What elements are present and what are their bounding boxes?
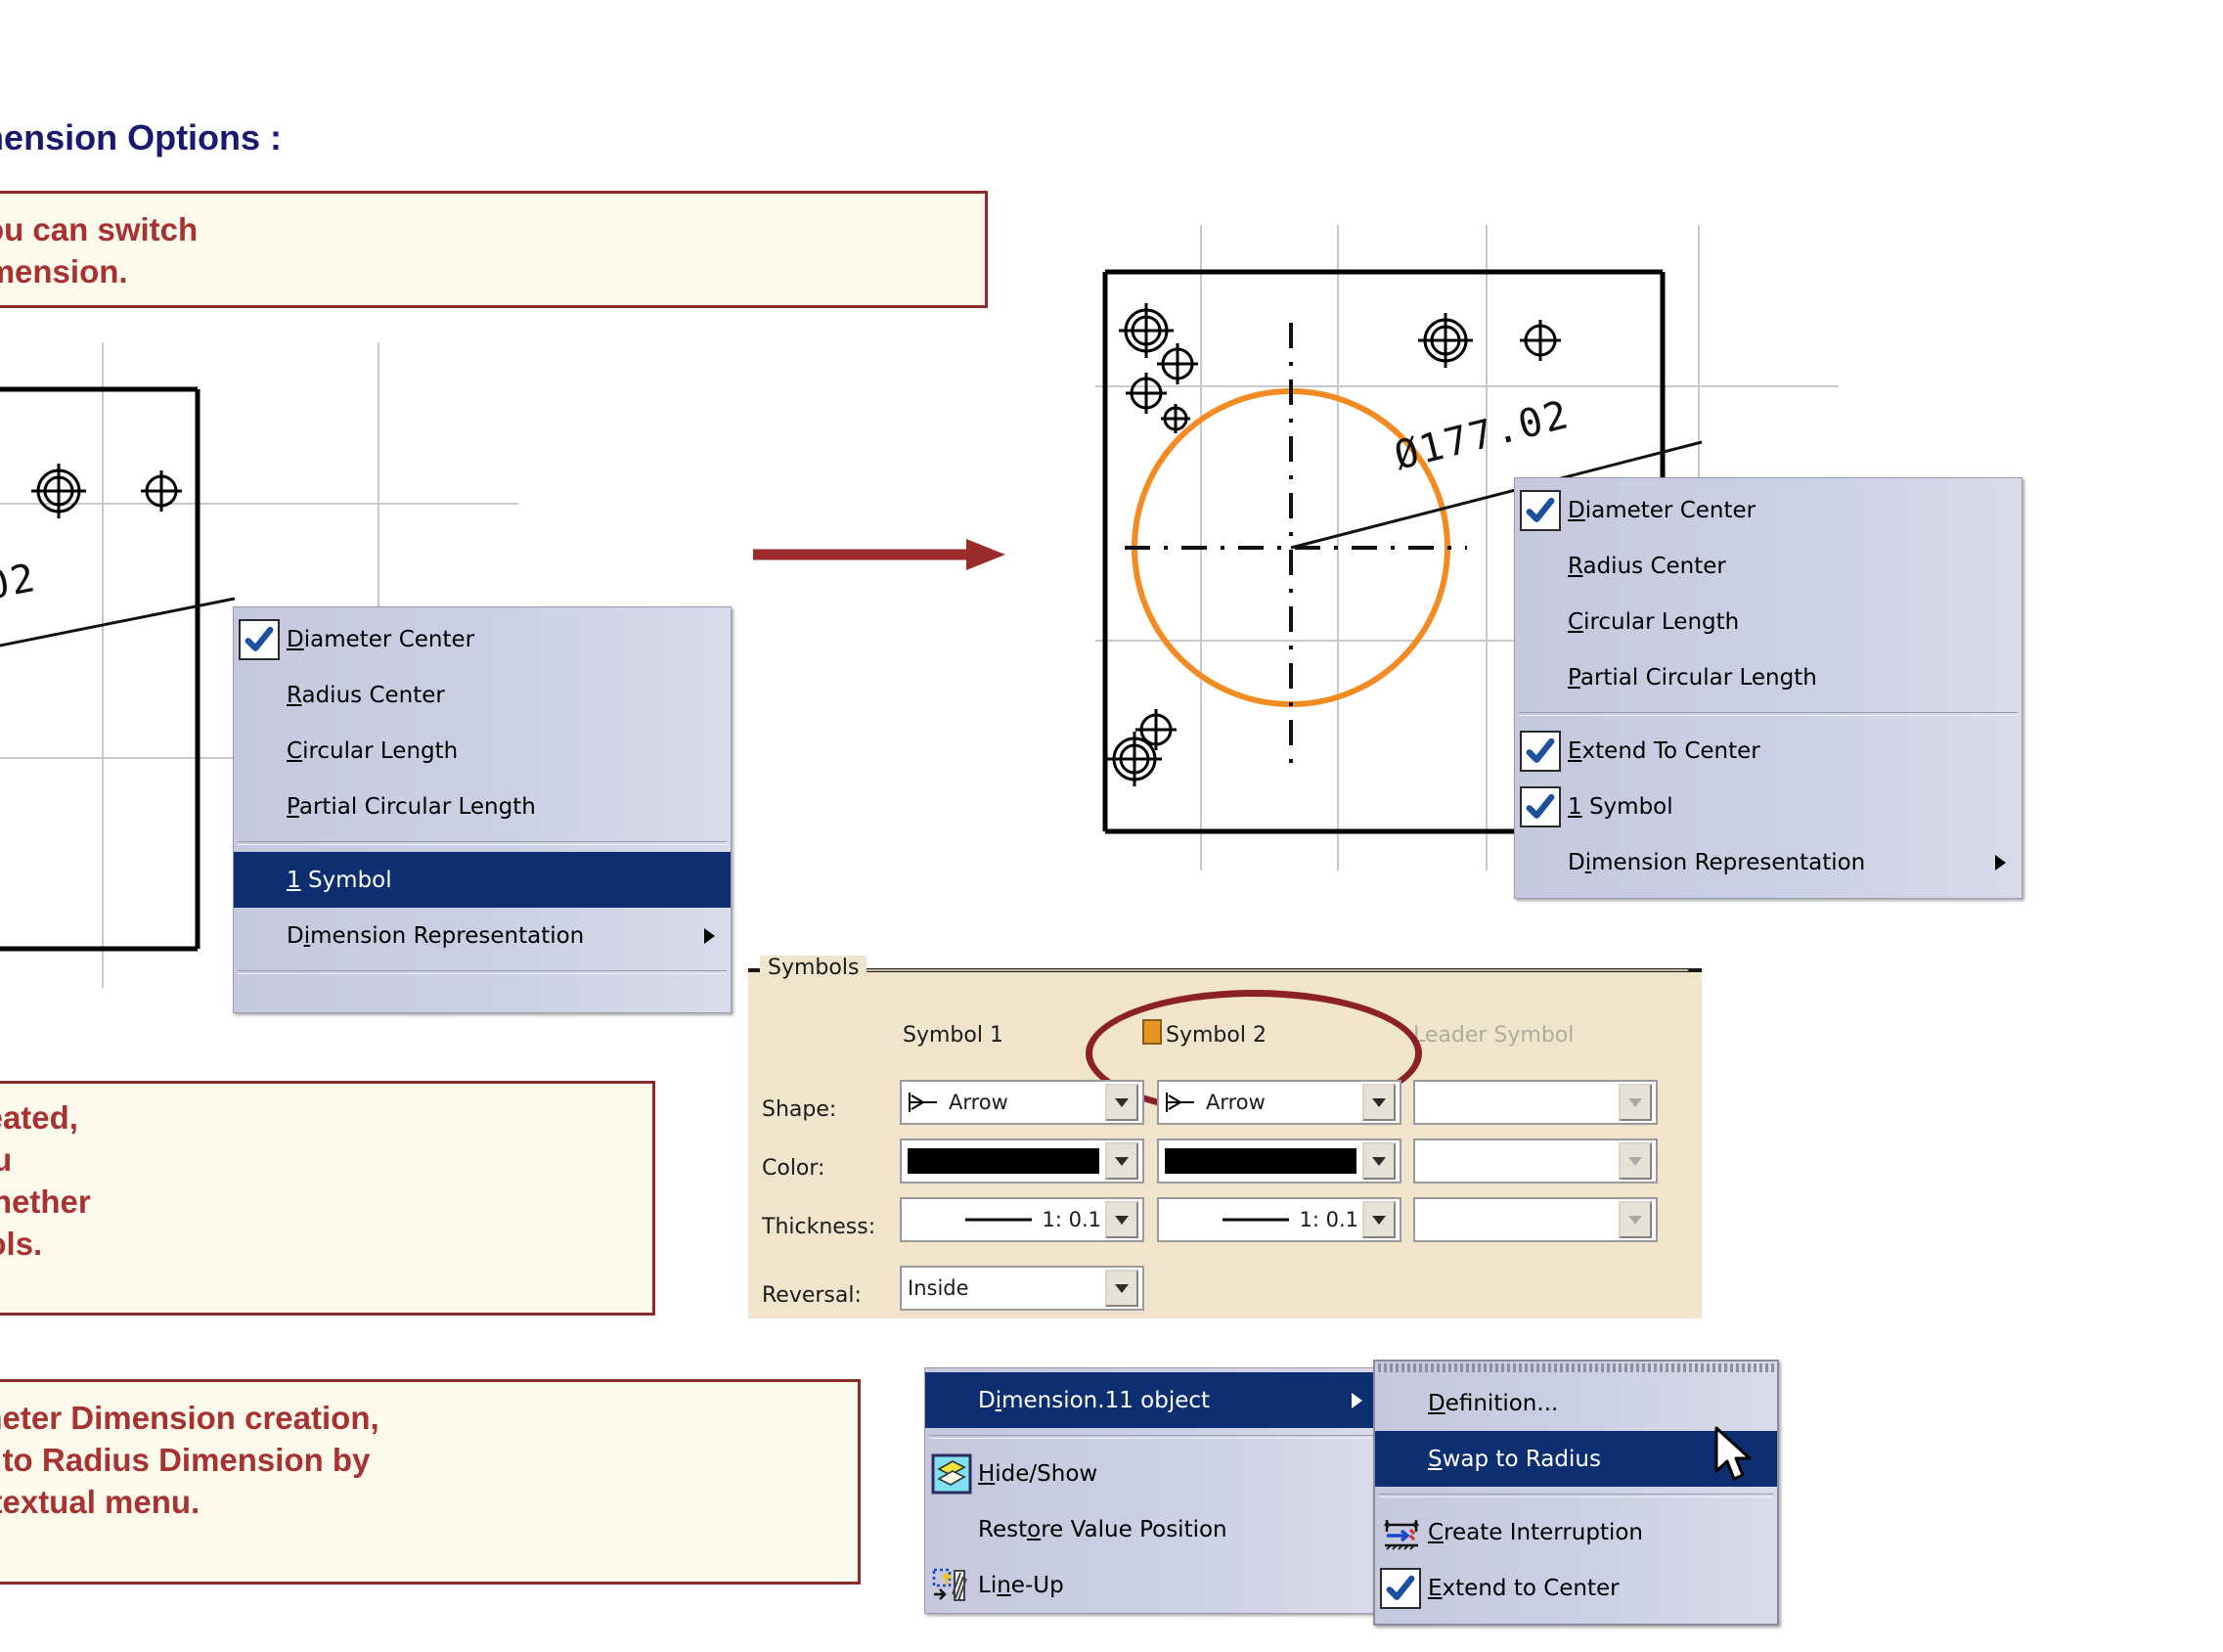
chevron-down-icon[interactable] — [1105, 1201, 1138, 1238]
menu-item-diameter-center[interactable]: Diameter Center — [234, 611, 731, 667]
menu-footer-strip — [234, 981, 731, 1005]
row-label-shape: Shape: — [762, 1097, 836, 1122]
callout-line: use the Properties menu — [0, 1139, 639, 1182]
combo-content: 1: 0.1 — [902, 1208, 1105, 1231]
callout-line: ymbol or two-symbols dimension. — [0, 251, 971, 293]
menu-item-extend-to-center[interactable]: Extend To Center — [1515, 723, 2022, 779]
callout-line: n Line tab) to specify whether — [0, 1182, 639, 1224]
checkmark-icon — [1520, 786, 1561, 827]
menu-item-diameter-center[interactable]: Diameter Center — [1515, 482, 2022, 538]
color-symbol-1-combo[interactable] — [900, 1139, 1144, 1183]
menu-item-create-interruption[interactable]: Create Interruption — [1375, 1504, 1777, 1560]
callout-box-swap-to-radius: After the Diameter Dimension creation, y… — [0, 1379, 861, 1585]
group-title-symbols: Symbols — [760, 956, 867, 980]
row-label-color: Color: — [762, 1156, 824, 1181]
menu-item-label: Dimension Representation — [287, 923, 584, 949]
menu-item-extend-to-center[interactable]: Extend to Center — [1375, 1560, 1777, 1616]
menu-item-line-up[interactable]: Line-Up — [925, 1557, 1378, 1613]
group-divider — [866, 969, 1688, 971]
line-thickness-icon — [963, 1213, 1034, 1227]
menu-item-label: 1 Symbol — [287, 868, 392, 893]
menu-separator — [238, 841, 727, 845]
menu-item-dimension-representation[interactable]: Dimension Representation — [1515, 834, 2022, 890]
column-header-symbol-2: Symbol 2 — [1166, 1023, 1267, 1048]
context-menu-dimension-options-left[interactable]: Diameter Center Radius Center Circular L… — [233, 606, 732, 1013]
menu-item-label: Radius Center — [1568, 554, 1726, 579]
color-symbol-2-combo[interactable] — [1157, 1139, 1401, 1183]
combo-content: 1: 0.1 — [1159, 1208, 1362, 1231]
chevron-down-icon — [1619, 1142, 1652, 1180]
menu-item-label: Diameter Center — [287, 627, 474, 652]
menu-item-label: Partial Circular Length — [287, 794, 536, 820]
dimension-value-right: Ø177.02 — [1390, 392, 1574, 479]
menu-item-label: Partial Circular Length — [1568, 665, 1817, 691]
chevron-down-icon — [1619, 1084, 1652, 1121]
column-header-symbol-1: Symbol 1 — [903, 1023, 1003, 1048]
chevron-down-icon[interactable] — [1105, 1142, 1138, 1180]
combo-content: Inside — [902, 1276, 1105, 1300]
callout-line: dimension has been created, — [0, 1097, 639, 1139]
menu-drag-handle[interactable] — [1378, 1363, 1774, 1372]
color-leader-symbol-combo — [1413, 1139, 1658, 1183]
combo-value: 1: 0.1 — [1042, 1208, 1101, 1231]
row-label-reversal: Reversal: — [762, 1283, 862, 1308]
callout-line: o use one or two-symbols. — [0, 1224, 639, 1266]
menu-item-label: Definition... — [1428, 1391, 1558, 1416]
column-header-leader-symbol: Leader Symbol — [1413, 1023, 1574, 1048]
combo-content — [902, 1148, 1105, 1174]
checkmark-icon — [1520, 731, 1561, 772]
chevron-right-icon — [1995, 855, 2006, 871]
line-up-icon — [931, 1565, 972, 1606]
callout-line: After the Diameter Dimension creation, — [0, 1398, 844, 1440]
context-menu-dimension-options-right[interactable]: Diameter Center Radius Center Circular L… — [1514, 477, 2023, 899]
menu-item-1-symbol[interactable]: 1 Symbol — [1515, 779, 2022, 834]
menu-item-label: Swap to Radius — [1428, 1447, 1601, 1472]
callout-line: using the contextual menu. — [0, 1482, 844, 1524]
combo-value: 1: 0.1 — [1299, 1208, 1358, 1231]
menu-item-label: Line-Up — [978, 1573, 1064, 1598]
menu-item-label: Diameter Center — [1568, 498, 1756, 523]
symbols-properties-panel: Symbols Symbol 1 Symbol 2 Leader Symbol … — [748, 968, 1702, 1318]
menu-item-circular-length[interactable]: Circular Length — [234, 723, 731, 779]
chevron-down-icon[interactable] — [1362, 1084, 1396, 1121]
combo-content — [1159, 1148, 1362, 1174]
menu-item-label: Dimension.11 object — [978, 1388, 1210, 1413]
transition-arrow-icon — [753, 533, 1007, 576]
chevron-down-icon[interactable] — [1362, 1201, 1396, 1238]
menu-item-label: Circular Length — [1568, 609, 1739, 635]
menu-item-radius-center[interactable]: Radius Center — [1515, 538, 2022, 594]
shape-symbol-1-combo[interactable]: Arrow — [900, 1080, 1144, 1125]
thickness-symbol-1-combo[interactable]: 1: 0.1 — [900, 1197, 1144, 1242]
chevron-down-icon[interactable] — [1105, 1270, 1138, 1307]
combo-content: Arrow — [902, 1091, 1105, 1114]
line-thickness-icon — [1221, 1213, 1291, 1227]
mouse-cursor-icon — [1712, 1426, 1757, 1487]
create-interruption-icon — [1381, 1512, 1422, 1553]
hide-show-icon — [931, 1453, 972, 1495]
color-swatch-black — [1165, 1148, 1356, 1174]
menu-item-restore-value-position[interactable]: Restore Value Position — [925, 1501, 1378, 1557]
menu-item-label: 1 Symbol — [1568, 794, 1673, 820]
page-title: eter Dimension Options : — [0, 117, 743, 158]
checkmark-icon — [1380, 1568, 1421, 1609]
menu-item-label: Create Interruption — [1428, 1520, 1643, 1545]
checkmark-icon — [239, 619, 280, 660]
shape-leader-symbol-combo — [1413, 1080, 1658, 1125]
dimension-value-left: Ø177.02 — [0, 556, 40, 634]
menu-item-label: Hide/Show — [978, 1461, 1097, 1487]
combo-value: Inside — [908, 1276, 969, 1300]
chevron-down-icon — [1619, 1201, 1652, 1238]
reversal-combo[interactable]: Inside — [900, 1266, 1144, 1311]
menu-item-definition[interactable]: Definition... — [1375, 1375, 1777, 1431]
menu-item-label: Circular Length — [287, 738, 458, 764]
menu-item-label: Dimension Representation — [1568, 850, 1865, 875]
menu-separator — [238, 970, 727, 974]
menu-item-dimension-representation[interactable]: Dimension Representation — [234, 908, 731, 963]
menu-item-1-symbol[interactable]: 1 Symbol — [234, 852, 731, 908]
combo-content: Arrow — [1159, 1091, 1362, 1114]
menu-item-label: Radius Center — [287, 683, 445, 708]
menu-item-hide-show[interactable]: Hide/Show — [925, 1446, 1378, 1501]
chevron-down-icon[interactable] — [1105, 1084, 1138, 1121]
menu-item-label: Restore Value Position — [978, 1517, 1227, 1542]
thickness-symbol-2-combo[interactable]: 1: 0.1 — [1157, 1197, 1401, 1242]
arrow-symbol-icon — [908, 1091, 941, 1114]
symbol-2-marker-icon — [1142, 1019, 1162, 1045]
callout-line: you can swap to Radius Dimension by — [0, 1440, 844, 1482]
menu-item-dimension-11-object[interactable]: Dimension.11 object — [925, 1372, 1378, 1428]
menu-item-radius-center[interactable]: Radius Center — [234, 667, 731, 723]
color-swatch-black — [908, 1148, 1099, 1174]
thickness-leader-symbol-combo — [1413, 1197, 1658, 1242]
menu-separator — [1519, 712, 2018, 716]
checkmark-icon — [1520, 490, 1561, 531]
callout-box-switch-symbols: mension creation step, you can switch ym… — [0, 191, 988, 308]
context-submenu-dimension-actions[interactable]: Definition... Swap to Radius Create Inte… — [1373, 1360, 1779, 1626]
context-menu-dimension-object[interactable]: Dimension.11 object Hide/Show Restore Va… — [924, 1367, 1379, 1614]
menu-separator — [929, 1435, 1374, 1439]
callout-line: mension creation step, you can switch — [0, 209, 971, 251]
menu-item-label: Extend to Center — [1428, 1576, 1620, 1601]
menu-item-partial-circular-length[interactable]: Partial Circular Length — [1515, 649, 2022, 705]
chevron-down-icon[interactable] — [1362, 1142, 1396, 1180]
menu-item-label: Extend To Center — [1568, 738, 1760, 764]
shape-symbol-2-combo[interactable]: Arrow — [1157, 1080, 1401, 1125]
combo-value: Arrow — [949, 1091, 1008, 1114]
arrow-symbol-icon — [1165, 1091, 1198, 1114]
chevron-right-icon — [1352, 1393, 1362, 1408]
callout-box-properties-menu: dimension has been created, use the Prop… — [0, 1081, 655, 1316]
combo-value: Arrow — [1206, 1091, 1266, 1114]
chevron-right-icon — [704, 928, 715, 944]
menu-separator — [1379, 1494, 1773, 1497]
menu-item-circular-length[interactable]: Circular Length — [1515, 594, 2022, 649]
menu-item-partial-circular-length[interactable]: Partial Circular Length — [234, 779, 731, 834]
row-label-thickness: Thickness: — [762, 1215, 875, 1239]
